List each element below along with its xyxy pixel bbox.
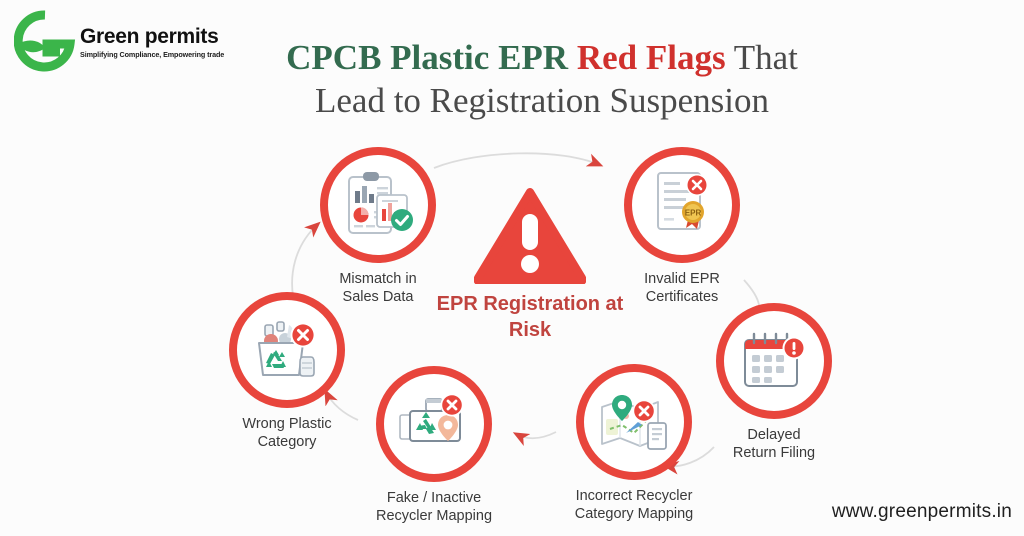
node-delayed-return-filing[interactable]: Delayed Return Filing (699, 303, 849, 463)
title-segment-red: Red Flags (577, 38, 726, 77)
arrow-4-to-5 (516, 432, 556, 438)
clipboard-chart-check-icon (341, 169, 415, 241)
node-ring (716, 303, 832, 419)
node-ring (320, 147, 436, 263)
node-fake-inactive-recycler-mapping[interactable]: Fake / Inactive Recycler Mapping (359, 366, 509, 526)
arrow-1-to-2 (434, 153, 600, 168)
svg-text:EPR: EPR (685, 209, 702, 218)
center-warning-label: EPR Registration at Risk (430, 292, 630, 343)
calendar-alert-icon (737, 328, 811, 394)
green-g-leaf-logo-icon (14, 10, 76, 72)
title-line-2: Lead to Registration Suspension (232, 79, 852, 122)
title-segment-green: CPCB Plastic EPR (286, 38, 577, 77)
node-label: Delayed Return Filing (699, 426, 849, 463)
title-line-1: CPCB Plastic EPR Red Flags That (232, 36, 852, 79)
node-invalid-epr-certificates[interactable]: EPR Invalid EPR Certificates (607, 147, 757, 307)
node-mismatch-sales-data[interactable]: Mismatch in Sales Data (303, 147, 453, 307)
node-label: Wrong Plastic Category (212, 415, 362, 452)
node-label: Fake / Inactive Recycler Mapping (359, 489, 509, 526)
infographic-canvas: Green permits Simplifying Compliance, Em… (0, 0, 1024, 536)
node-wrong-plastic-category[interactable]: Wrong Plastic Category (212, 292, 362, 452)
node-ring (576, 364, 692, 480)
node-label: Incorrect Recycler Category Mapping (559, 487, 709, 524)
node-incorrect-recycler-category-mapping[interactable]: Incorrect Recycler Category Mapping (559, 364, 709, 524)
brand-name: Green permits (80, 26, 248, 47)
node-ring: EPR (624, 147, 740, 263)
page-title: CPCB Plastic EPR Red Flags That Lead to … (232, 36, 852, 123)
document-x-epr-seal-icon: EPR (646, 168, 718, 242)
brand-tagline: Simplifying Compliance, Empowering trade (80, 50, 248, 59)
recycling-factory-x-pin-icon (396, 393, 472, 455)
brand-text: Green permits Simplifying Compliance, Em… (80, 26, 248, 59)
map-pin-x-document-icon (596, 389, 672, 455)
warning-triangle-icon (474, 186, 586, 284)
recycle-bin-waste-x-icon (249, 317, 325, 383)
node-ring (229, 292, 345, 408)
title-segment-gray: That (726, 38, 798, 77)
center-warning: EPR Registration at Risk (430, 186, 630, 343)
brand-logo[interactable]: Green permits Simplifying Compliance, Em… (8, 6, 248, 74)
website-url[interactable]: www.greenpermits.in (832, 501, 1012, 523)
node-ring (376, 366, 492, 482)
node-label: Invalid EPR Certificates (607, 270, 757, 307)
